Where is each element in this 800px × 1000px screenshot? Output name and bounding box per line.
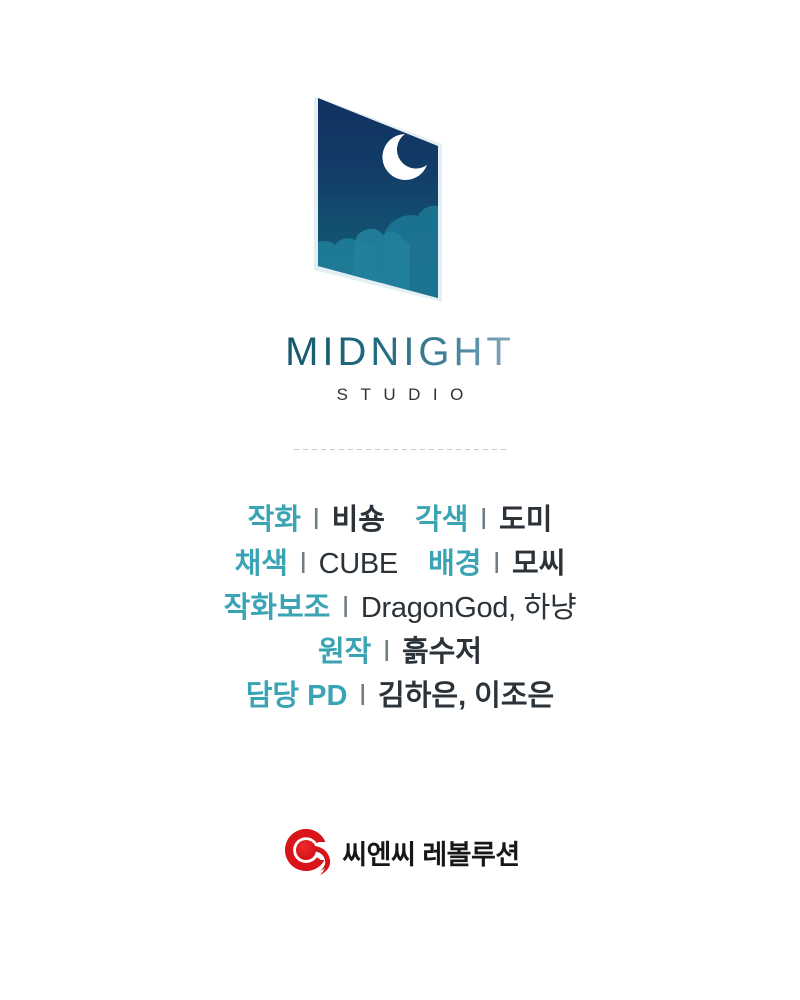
credit-row: 채색 l CUBE 배경 l 모씨 [0, 542, 800, 586]
credit-separator: l [296, 548, 310, 580]
credit-value: 도미 [499, 504, 552, 536]
credit-row: 작화 l 비숑 각색 l 도미 [0, 498, 800, 542]
publisher-name: 씨엔씨 레볼루션 [342, 833, 519, 872]
credit-separator: l [309, 504, 323, 536]
cnc-inner-dot [296, 840, 316, 860]
midnight-studio-logo-mark [300, 88, 500, 318]
credit-value: DragonGod, 하냥 [361, 592, 577, 624]
credit-value: 모씨 [512, 548, 565, 580]
credit-row: 작화보조 l DragonGod, 하냥 [0, 586, 800, 630]
studio-name-studio: STUDIO [285, 386, 515, 403]
studio-wordmark: MIDNIGHT STUDIO [285, 332, 515, 403]
credit-row: 담당 PD l 김하은, 이조은 [0, 674, 800, 718]
publisher-logo: 씨엔씨 레볼루션 [280, 826, 519, 878]
credit-value: 비숑 [332, 504, 385, 536]
credit-label: 배경 [428, 548, 481, 580]
credit-value: 흙수저 [402, 636, 482, 668]
banner-body [300, 88, 500, 318]
credit-separator: l [356, 680, 370, 712]
credit-label: 채색 [235, 548, 288, 580]
cnc-c-swoosh-icon [280, 826, 332, 878]
credit-label: 작화보조 [224, 592, 331, 624]
credit-value: 김하은, 이조은 [378, 680, 554, 712]
credit-label: 원작 [318, 636, 371, 668]
credits-list: 작화 l 비숑 각색 l 도미 채색 l CUBE 배경 l 모씨 작화보조 l… [0, 498, 800, 718]
crescent-banner-icon [300, 88, 500, 318]
credits-page: MIDNIGHT STUDIO 작화 l 비숑 각색 l 도미 채색 l CUB… [0, 0, 800, 1000]
section-divider [294, 449, 506, 450]
credit-separator: l [379, 636, 393, 668]
credit-label: 작화 [248, 504, 301, 536]
credit-separator: l [477, 504, 491, 536]
credit-separator: l [338, 592, 352, 624]
credit-label: 각색 [415, 504, 468, 536]
studio-name-midnight: MIDNIGHT [285, 332, 515, 372]
credit-separator: l [490, 548, 504, 580]
credit-row: 원작 l 흙수저 [0, 630, 800, 674]
credit-value: CUBE [319, 548, 398, 580]
credit-label: 담당 PD [246, 680, 348, 712]
